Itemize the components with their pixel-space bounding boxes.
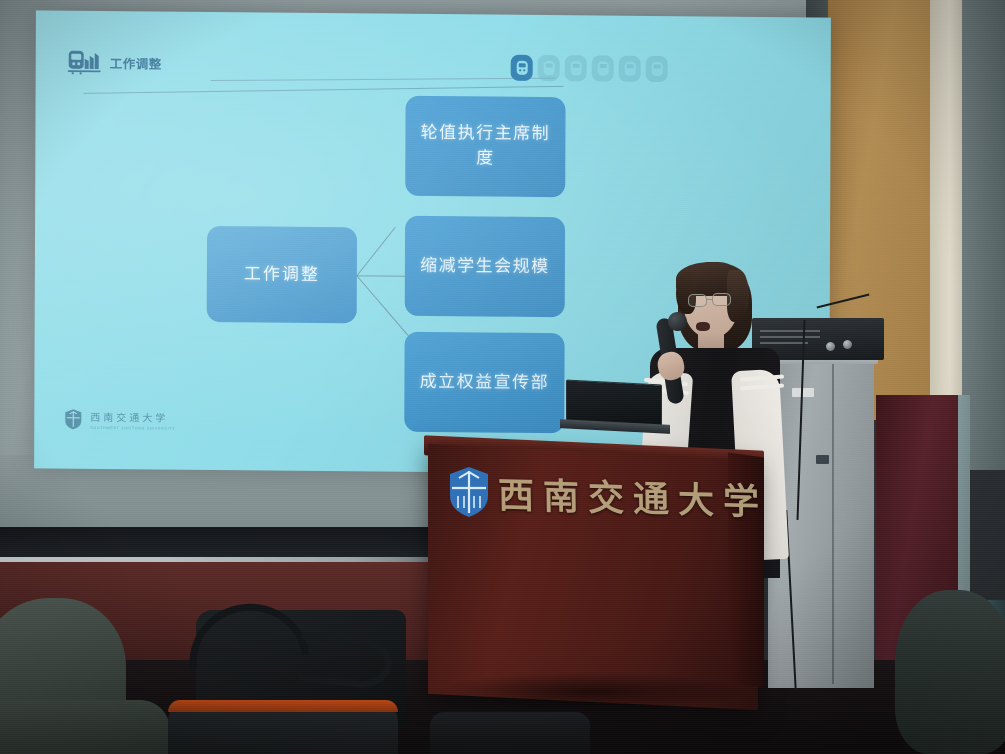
auditorium-chair-orange-trim (168, 700, 398, 712)
university-logo-text: 西南交通大学 SOUTHWEST JIAOTONG UNIVERSITY (90, 409, 175, 431)
connector-line-2 (357, 275, 407, 276)
progress-dot-6[interactable] (646, 56, 668, 82)
speaker-hair-left (676, 272, 696, 314)
flowchart-child-node-3: 成立权益宣传部 (404, 332, 564, 433)
lecture-hall-photo: 工作调整 工作调整 (0, 0, 1005, 754)
header-divider-line-secondary (211, 78, 556, 81)
podium-university-text: 西南交通大学 (498, 466, 769, 525)
amplifier-knob-1[interactable] (826, 342, 835, 351)
audience-shoulder-left (0, 700, 170, 754)
flowchart-parent-node: 工作调整 (207, 226, 357, 323)
shield-icon (64, 409, 82, 430)
audience-head-right (895, 590, 1005, 754)
train-icon (68, 49, 102, 75)
podium-shield-emblem-icon (448, 466, 490, 518)
amplifier-vent-line-2 (760, 336, 820, 338)
header-divider-line (84, 86, 564, 94)
university-name-en: SOUTHWEST JIAOTONG UNIVERSITY (90, 426, 175, 431)
progress-dot-4[interactable] (592, 55, 614, 81)
cabinet-badge (816, 455, 829, 464)
speaker-mouth (696, 322, 710, 331)
slide-title: 工作调整 (110, 53, 162, 72)
glasses-bridge (706, 299, 713, 300)
podium-shadow (430, 672, 750, 712)
glasses-lens-left-icon (688, 294, 707, 307)
university-logo: 西南交通大学 SOUTHWEST JIAOTONG UNIVERSITY (64, 409, 175, 431)
cabinet-seam (832, 364, 834, 684)
slide-header: 工作调整 (68, 49, 162, 76)
amplifier-vent-line-3 (760, 342, 808, 344)
connector-line-1 (356, 227, 395, 276)
slide-progress-dots (511, 55, 668, 82)
amplifier-vent-line-1 (760, 330, 820, 332)
auditorium-chair-secondary (430, 712, 590, 754)
amplifier-knob-2[interactable] (843, 340, 852, 349)
progress-dot-2[interactable] (538, 55, 560, 81)
glasses-lens-right-icon (712, 293, 731, 306)
flowchart-child-node-2: 缩减学生会规模 (405, 216, 565, 317)
university-name-cn: 西南交通大学 (90, 409, 175, 425)
progress-dot-1[interactable] (511, 55, 533, 81)
progress-dot-5[interactable] (619, 56, 641, 82)
progress-dot-3[interactable] (565, 55, 587, 81)
flowchart-child-node-1: 轮值执行主席制度 (405, 96, 565, 197)
